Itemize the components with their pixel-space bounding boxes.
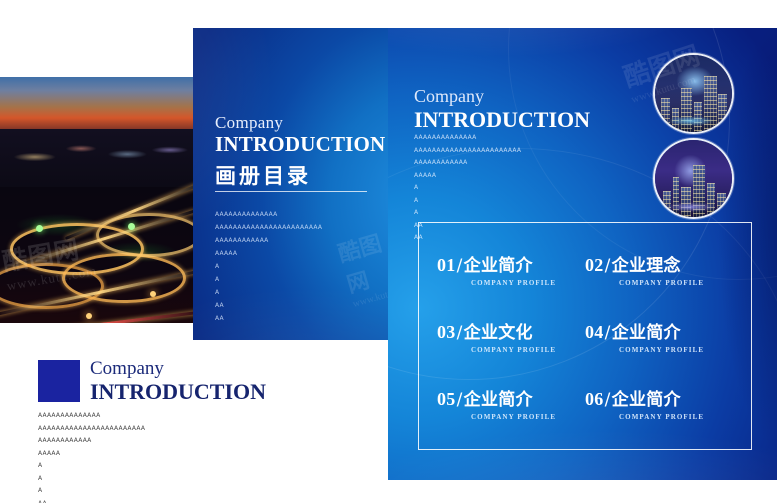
content-body-line: AAAAAAAAAAAAAA (414, 132, 594, 145)
content-body-line: A (414, 207, 594, 220)
bottom-eyebrow: Company (90, 358, 164, 380)
toc-item-label: 企业简介 (464, 256, 533, 276)
toc-item-number: 02 (585, 255, 604, 275)
cover-panel-inner: Company INTRODUCTION 画册目录 AAAAAAAAAAAAAA… (193, 28, 388, 340)
circle-light-glow (665, 202, 717, 212)
cover-body-line: A (215, 260, 375, 273)
bottom-title: INTRODUCTION (90, 379, 266, 405)
content-body-line: AAAAAAAAAAAAAAAAAAAAAAAA (414, 145, 594, 158)
table-of-contents-grid: 01/企业简介 COMPANY PROFILE 02/企业理念 COMPANY … (419, 223, 751, 449)
bottom-body-line: AAAAA (38, 448, 238, 461)
toc-item-number: 03 (437, 322, 456, 342)
toc-item-subtitle: COMPANY PROFILE (619, 413, 733, 421)
brand-square-mark (38, 360, 80, 402)
cover-body-line: AAAAA (215, 247, 375, 260)
cover-divider (215, 191, 367, 192)
toc-item-label: 企业理念 (612, 256, 681, 276)
circle-building (718, 94, 727, 132)
toc-item-heading: 06/企业简介 (585, 385, 733, 410)
bottom-body-line: AAAAAAAAAAAA (38, 435, 238, 448)
toc-item-02[interactable]: 02/企业理念 COMPANY PROFILE (585, 235, 733, 302)
content-body-line: AAAAA (414, 170, 594, 183)
toc-item-subtitle: COMPANY PROFILE (619, 346, 733, 354)
content-panel: Company INTRODUCTION AAAAAAAAAAAAAA AAAA… (388, 28, 777, 480)
toc-item-number: 05 (437, 389, 456, 409)
toc-slash: / (456, 323, 464, 343)
toc-item-number: 01 (437, 255, 456, 275)
toc-item-heading: 05/企业简介 (437, 385, 585, 410)
content-body-line: A (414, 182, 594, 195)
toc-item-heading: 01/企业简介 (437, 251, 585, 276)
toc-item-01[interactable]: 01/企业简介 COMPANY PROFILE (437, 235, 585, 302)
toc-item-06[interactable]: 06/企业简介 COMPANY PROFILE (585, 370, 733, 437)
toc-slash: / (604, 390, 612, 410)
toc-item-heading: 03/企业文化 (437, 318, 585, 343)
cover-body-line: AAAAAAAAAAAAAA (215, 208, 375, 221)
toc-item-heading: 04/企业简介 (585, 318, 733, 343)
bottom-body-line: A (38, 485, 238, 498)
photo-light-glow (150, 291, 156, 297)
toc-item-number: 06 (585, 389, 604, 409)
toc-item-subtitle: COMPANY PROFILE (619, 279, 733, 287)
bottom-body-line: AA (38, 498, 238, 503)
content-title: INTRODUCTION (414, 107, 590, 133)
toc-slash: / (456, 256, 464, 276)
content-body-line: AAAAAAAAAAAA (414, 157, 594, 170)
toc-item-label: 企业简介 (612, 390, 681, 410)
cover-title: INTRODUCTION (215, 132, 385, 157)
cover-body-lines: AAAAAAAAAAAAAA AAAAAAAAAAAAAAAAAAAAAAAA … (215, 208, 375, 325)
table-of-contents-box: 01/企业简介 COMPANY PROFILE 02/企业理念 COMPANY … (418, 222, 752, 450)
bottom-body-line: AAAAAAAAAAAAAAAAAAAAAAAA (38, 423, 238, 436)
cover-body-line: AAAAAAAAAAAA (215, 234, 375, 247)
circle-light-glow (667, 116, 715, 126)
cover-body-line: AAAAAAAAAAAAAAAAAAAAAAAA (215, 221, 375, 234)
bottom-body-line: AAAAAAAAAAAAAA (38, 410, 238, 423)
cover-body-line: A (215, 286, 375, 299)
poster-canvas: 酷图网 www.kutu.com Company INTRODUCTION 画册… (0, 0, 777, 503)
cover-panel: Company INTRODUCTION 画册目录 AAAAAAAAAAAAAA… (193, 28, 388, 340)
cover-body-line: AA (215, 312, 375, 325)
toc-item-label: 企业简介 (612, 323, 681, 343)
photo-light-glow (36, 225, 43, 232)
toc-item-number: 04 (585, 322, 604, 342)
content-body-line: A (414, 195, 594, 208)
toc-item-label: 企业文化 (464, 323, 533, 343)
cover-body-line: A (215, 273, 375, 286)
photo-light-glow (86, 313, 92, 319)
toc-item-03[interactable]: 03/企业文化 COMPANY PROFILE (437, 302, 585, 369)
cover-eyebrow: Company (215, 113, 283, 133)
circle-building (717, 193, 726, 217)
toc-slash: / (604, 256, 612, 276)
circle-building (707, 183, 715, 217)
toc-slash: / (604, 323, 612, 343)
toc-item-label: 企业简介 (464, 390, 533, 410)
toc-item-subtitle: COMPANY PROFILE (471, 279, 585, 287)
toc-item-04[interactable]: 04/企业简介 COMPANY PROFILE (585, 302, 733, 369)
content-eyebrow: Company (414, 86, 484, 107)
toc-slash: / (456, 390, 464, 410)
city-skyline-night-2 (653, 138, 734, 219)
night-highway-interchange-photo: 酷图网 www.kutu.com (0, 77, 193, 323)
toc-item-subtitle: COMPANY PROFILE (471, 346, 585, 354)
cover-chinese-title: 画册目录 (215, 160, 311, 190)
bottom-body-line: A (38, 473, 238, 486)
cover-body-line: AA (215, 299, 375, 312)
bottom-body-lines: AAAAAAAAAAAAAA AAAAAAAAAAAAAAAAAAAAAAAA … (38, 410, 238, 503)
circle-building (661, 98, 670, 132)
bottom-body-line: A (38, 460, 238, 473)
city-skyline-night-1 (653, 53, 734, 134)
toc-item-subtitle: COMPANY PROFILE (471, 413, 585, 421)
toc-item-heading: 02/企业理念 (585, 251, 733, 276)
toc-item-05[interactable]: 05/企业简介 COMPANY PROFILE (437, 370, 585, 437)
